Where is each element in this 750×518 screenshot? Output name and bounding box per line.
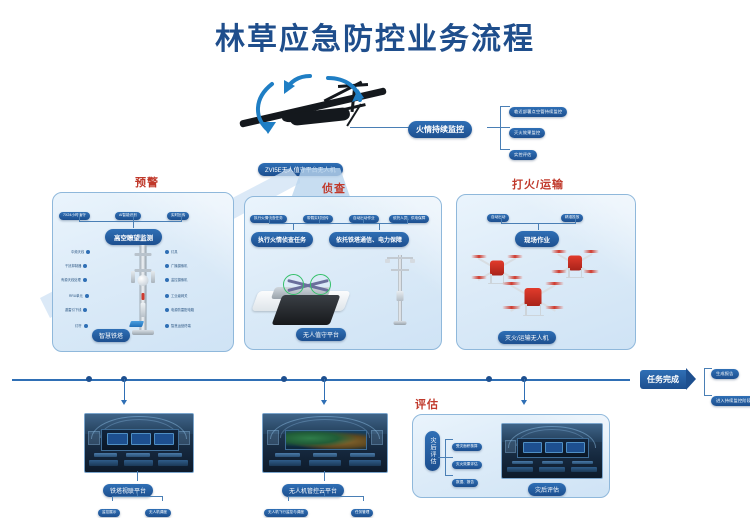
- control-room-desk: [275, 453, 300, 457]
- tower-band-mid: [135, 269, 152, 272]
- pole-equipment-box: [397, 291, 404, 301]
- control-room-wall-panel: [371, 430, 383, 445]
- timeline-drop-2: [324, 379, 325, 401]
- control-room-desk: [572, 461, 593, 465]
- tower-cabinet: [141, 303, 146, 317]
- evaluation-screenshot: [501, 423, 603, 479]
- warning-main-label: 高空瞭望监测: [105, 227, 162, 245]
- timeline-drop-1: [124, 379, 125, 401]
- tower-label-right-5: 电源防雷配电箱: [165, 307, 194, 312]
- pole-mast: [398, 255, 402, 325]
- fire-drone-right: [553, 247, 597, 279]
- drone-rotor: [283, 274, 304, 295]
- fire-drone-rotor: [471, 255, 487, 258]
- uav-cloud-tag-1: 无人机飞行监控与调度: [264, 500, 308, 518]
- recon-tag-bus: [269, 223, 408, 224]
- pole-crossarm-lower: [391, 269, 409, 271]
- hangar-drone: [285, 277, 329, 295]
- firefight-caption: 灭火/运输无人机: [498, 327, 556, 345]
- task-complete-label: 任务完成: [640, 370, 686, 389]
- tower-label-dot: [85, 294, 89, 298]
- warning-tag-1: 7X24小时值守: [59, 203, 90, 221]
- tower-equipment-module: [129, 321, 144, 327]
- warning-caption: 智慧铁塔: [92, 325, 130, 343]
- control-room-desk: [124, 460, 153, 465]
- tower-label-dot: [165, 294, 169, 298]
- videowall-tile: [154, 433, 174, 445]
- fire-drone-rotor: [545, 306, 564, 309]
- pole-camera-right: [410, 259, 415, 263]
- control-room-desk: [507, 467, 533, 472]
- fire-drone-rotor: [551, 270, 567, 273]
- monitor-branch-connector: [350, 127, 410, 128]
- panel-content-firefight: 自动出动 精准投放 现场作业: [457, 195, 635, 349]
- control-room-desk: [313, 453, 338, 457]
- smart-tower-illustration: [127, 245, 159, 335]
- tower-platform-tag-1: 监控展示: [98, 500, 120, 518]
- fire-drone-leg: [568, 268, 570, 277]
- tower-antenna-right: [151, 271, 155, 283]
- task-complete-item-2: 进入持续监控阶段: [711, 389, 750, 407]
- tower-beacon: [142, 293, 145, 300]
- tower-label-right-3: 监控摄像机: [165, 277, 187, 282]
- videowall-tile: [523, 442, 542, 454]
- tower-label-dot: [83, 278, 87, 282]
- control-room-desk: [89, 460, 118, 465]
- uav-cloud-tag-bus: [288, 496, 364, 497]
- tower-band-top: [135, 253, 152, 256]
- control-room-desk: [158, 460, 187, 465]
- control-room-wall-panel: [178, 431, 190, 445]
- pole-camera-left: [385, 259, 390, 263]
- tower-label-dot: [165, 308, 169, 312]
- warning-tag-2: AI智能识别: [115, 203, 141, 221]
- tower-label-dot: [84, 324, 88, 328]
- fire-drone-rotor: [502, 282, 521, 285]
- monitor-item-1: 临近部署点空管持续监控: [509, 100, 567, 118]
- pole-base: [394, 321, 407, 325]
- control-room-desk: [349, 460, 381, 465]
- fire-drone-rotor: [583, 250, 599, 253]
- monitor-item-2: 灭火效果监控: [509, 121, 545, 139]
- unmanned-hangar-illustration: [255, 253, 365, 325]
- fire-drone-leg: [490, 274, 492, 283]
- control-room-desk: [309, 460, 341, 465]
- control-room-desk: [158, 453, 182, 457]
- fire-drone-rotor: [471, 276, 487, 279]
- tower-label-right-2: 广播摄像机: [165, 263, 187, 268]
- control-room-desk: [126, 453, 150, 457]
- recon-caption: 无人值守平台: [296, 324, 346, 342]
- monitor-item-3: 实控评估: [509, 143, 537, 161]
- timeline-node-5: [486, 376, 492, 382]
- tower-label-left-4: RRU单元: [69, 293, 89, 298]
- tower-label-left-1: 中频天线: [71, 249, 90, 254]
- recon-tag-2: 带载实时回传: [303, 206, 333, 224]
- tower-label-left-3: 有源天线处理: [61, 277, 87, 282]
- tower-label-right-6: 智慧运营终端: [165, 323, 191, 328]
- monitor-branch-stem: [487, 127, 501, 128]
- tower-platform-tag-2: 无人机调度: [145, 500, 171, 518]
- recon-main-label-right: 依托铁塔通信、电力保障: [329, 229, 409, 247]
- stage-header-recon: 侦查: [322, 180, 346, 196]
- videowall-tile: [107, 433, 127, 445]
- tower-platform-tag-bus: [112, 496, 163, 497]
- timeline-node-1: [86, 376, 92, 382]
- control-room-videowall: [101, 429, 179, 451]
- tower-label-right-4: 工业级网关: [165, 293, 187, 298]
- fire-drone-skid: [523, 315, 544, 317]
- fire-drone-rotor: [551, 250, 567, 253]
- tower-platform-screenshot: [84, 413, 194, 473]
- control-room-videowall: [517, 438, 589, 458]
- tower-label-left-6: 灯杆: [75, 323, 88, 328]
- videowall-tile: [545, 442, 564, 454]
- control-room-desk: [269, 460, 301, 465]
- circulation-arrows-icon: [232, 72, 412, 152]
- tower-label-dot: [83, 308, 87, 312]
- tower-label-dot: [165, 324, 169, 328]
- fire-drone-rotor: [502, 306, 521, 309]
- camera-pole-illustration: [383, 249, 417, 325]
- control-room-desk: [94, 453, 118, 457]
- evaluation-item-2: 灭火效果评估: [452, 452, 482, 470]
- videowall-map-display: [285, 430, 366, 451]
- stage-header-firefight: 打火/运输: [512, 176, 564, 192]
- evaluation-panel: 灾后评估 受灾面积核算 灭火效果评估 数据、报告: [412, 414, 610, 498]
- tower-antenna-left: [131, 271, 135, 283]
- diagram-canvas: 林草应急防控业务流程 ZVI5E无人值守平台无人机 火情持续监控 临近部署点空管…: [0, 0, 750, 514]
- tower-label-dot: [165, 278, 169, 282]
- task-complete-node: 任务完成: [640, 368, 696, 390]
- tower-label-dot: [165, 264, 169, 268]
- task-complete-arrow-tip: [686, 368, 696, 390]
- videowall-tile: [566, 442, 585, 454]
- tower-label-dot: [165, 250, 169, 254]
- evaluation-panel-content: 灾后评估 受灾面积核算 灭火效果评估 数据、报告: [413, 415, 609, 497]
- control-room-desk: [571, 467, 597, 472]
- fire-drone-leg: [525, 304, 527, 315]
- fire-drone-leg: [540, 304, 542, 315]
- tower-label-left-2: 干扰抑制器: [65, 263, 87, 268]
- timeline-arrow-1: [121, 400, 127, 405]
- tower-label-right-1: 灯具: [165, 249, 178, 254]
- timeline-arrow-2: [321, 400, 327, 405]
- page-title: 林草应急防控业务流程: [0, 14, 750, 58]
- uav-cloud-platform-screenshot: [262, 413, 388, 473]
- uav-cloud-tag-2: 任务管理: [351, 500, 373, 518]
- tower-base: [132, 330, 154, 335]
- drone-rotor: [310, 274, 331, 295]
- hangar-body: [272, 295, 341, 325]
- videowall-tile: [131, 433, 151, 445]
- fire-drone-skid: [566, 277, 584, 279]
- timeline-arrow-3: [521, 400, 527, 405]
- firefight-main-label: 现场作业: [515, 229, 559, 247]
- task-complete-item-1: 生成报告: [711, 362, 739, 380]
- control-room-desk: [539, 467, 565, 472]
- fire-drone-front: [505, 277, 561, 317]
- warning-tag-bus: [79, 221, 182, 222]
- firefight-tag-1: 自动出动: [487, 205, 509, 223]
- evaluation-caption: 灾后评估: [528, 479, 566, 497]
- tower-label-left-5: 避雷引下线: [65, 307, 87, 312]
- recon-main-label-left: 执行火情侦查任务: [251, 229, 313, 247]
- fire-drone-rotor: [507, 255, 523, 258]
- evaluation-header: 评估: [415, 396, 439, 412]
- control-room-wall-panel: [88, 431, 100, 445]
- fire-drone-leg: [581, 268, 583, 277]
- tower-label-dot: [83, 264, 87, 268]
- evaluation-item-3: 数据、报告: [452, 470, 478, 488]
- control-room-wall-panel: [267, 430, 279, 445]
- stage-header-warning: 预警: [135, 174, 159, 190]
- fire-drone-rotor: [545, 282, 564, 285]
- control-room-wall-panel: [505, 440, 516, 453]
- tower-dish: [138, 275, 149, 286]
- recon-tag-4: 依托人员、供电保障: [389, 206, 429, 224]
- panel-content-warning: 7X24小时值守 AI智能识别 实时回传 高空瞭望监测: [53, 193, 233, 351]
- evaluation-item-1: 受灾面积核算: [452, 434, 482, 452]
- timeline-drop-3: [524, 379, 525, 401]
- warning-tag-3: 实时回传: [167, 203, 189, 221]
- task-complete-spine: [704, 368, 705, 396]
- evaluation-vertical-label: 灾后评估: [425, 431, 440, 471]
- control-room-desk: [542, 461, 563, 465]
- stage-panel-warning: 7X24小时值守 AI智能识别 实时回传 高空瞭望监测: [52, 192, 234, 352]
- timeline-node-3: [281, 376, 287, 382]
- fire-drone-rotor: [583, 270, 599, 273]
- monitor-branch-label: 火情持续监控: [408, 119, 472, 138]
- control-room-desk: [512, 461, 533, 465]
- firefight-tag-2: 精准投放: [561, 205, 583, 223]
- tower-label-dot: [86, 250, 90, 254]
- control-room-desk: [350, 453, 375, 457]
